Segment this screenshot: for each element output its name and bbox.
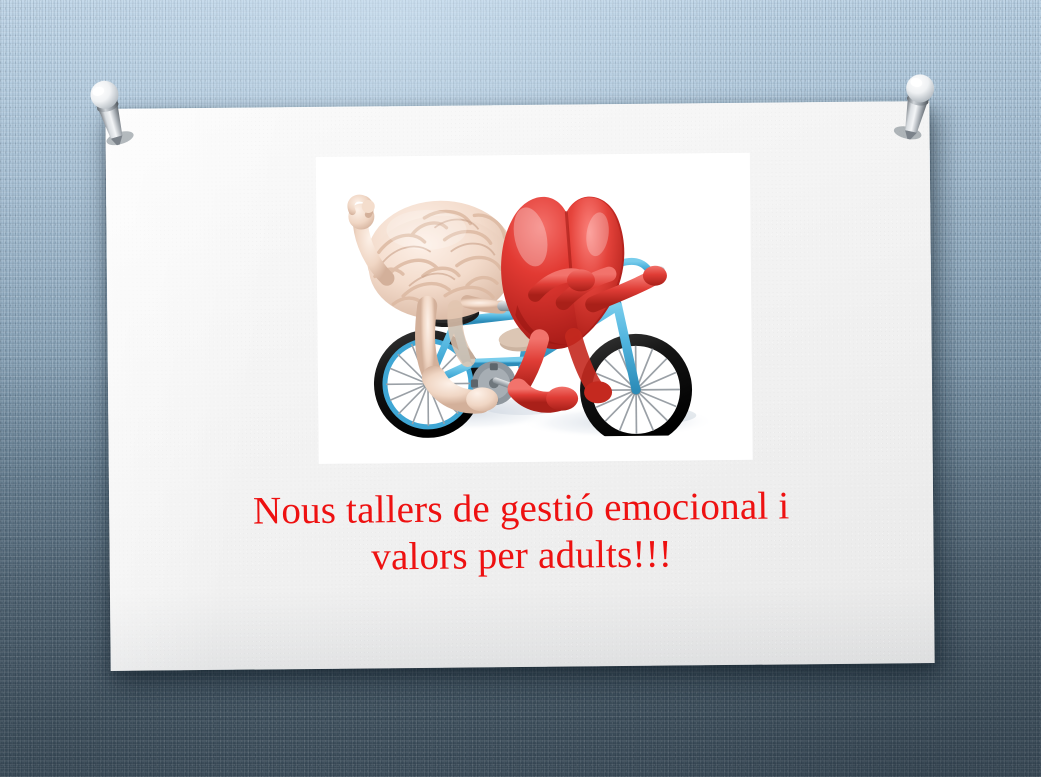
paper-sheet: Nous tallers de gestió emocional i valor… [105,101,934,671]
caption-line-1: Nous tallers de gestió emocional i [253,484,790,532]
brain-heart-bicycle-photo [316,153,753,464]
slide-canvas: Nous tallers de gestió emocional i valor… [0,0,1041,777]
slide-caption: Nous tallers de gestió emocional i valor… [109,481,934,583]
caption-line-2: valors per adults!!! [109,528,933,583]
